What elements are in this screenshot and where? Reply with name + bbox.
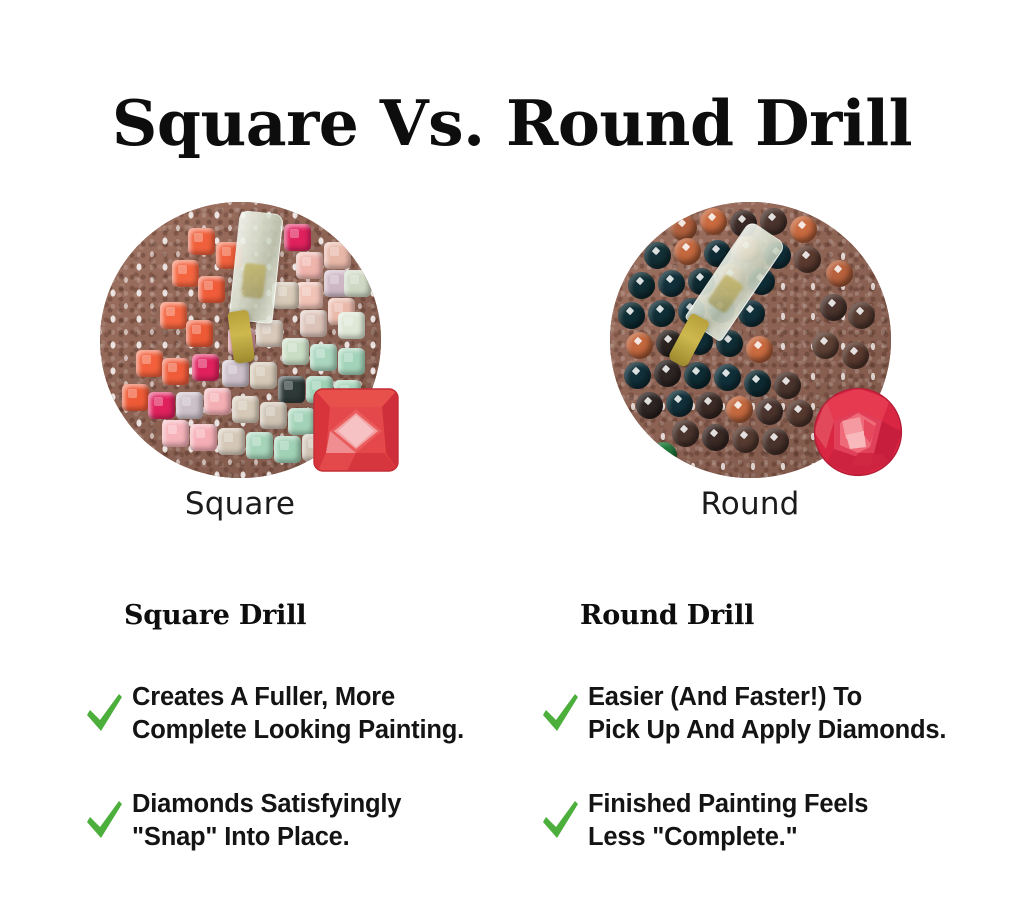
infographic-page: { "title": "Square Vs. Round Drill", "co… xyxy=(0,0,1024,923)
list-item: Diamonds Satisfyingly "Snap" Into Place. xyxy=(84,788,524,853)
photo-comparison-row xyxy=(0,0,1024,540)
square-drill-photo-block xyxy=(70,195,410,535)
list-item: Easier (And Faster!) To Pick Up And Appl… xyxy=(540,681,980,746)
benefit-text: Easier (And Faster!) To Pick Up And Appl… xyxy=(588,681,946,746)
round-drill-photo-block xyxy=(580,195,920,535)
caption-square: Square xyxy=(70,486,410,522)
round-drill-benefits-column: Round Drill Easier (And Faster!) To Pick… xyxy=(540,600,980,896)
red-round-gem xyxy=(812,387,904,477)
square-drill-heading: Square Drill xyxy=(124,600,524,631)
check-mark-icon xyxy=(84,691,124,737)
red-square-gem xyxy=(312,387,400,473)
list-item: Creates A Fuller, More Complete Looking … xyxy=(84,681,524,746)
check-mark-icon xyxy=(84,798,124,844)
check-mark-icon xyxy=(540,691,580,737)
caption-round: Round xyxy=(580,486,920,522)
list-item: Finished Painting Feels Less "Complete." xyxy=(540,788,980,853)
check-mark-icon xyxy=(540,798,580,844)
round-drill-heading: Round Drill xyxy=(580,600,980,631)
benefit-text: Diamonds Satisfyingly "Snap" Into Place. xyxy=(132,788,401,853)
square-drill-benefits-column: Square Drill Creates A Fuller, More Comp… xyxy=(84,600,524,896)
benefit-text: Finished Painting Feels Less "Complete." xyxy=(588,788,868,853)
benefit-text: Creates A Fuller, More Complete Looking … xyxy=(132,681,464,746)
